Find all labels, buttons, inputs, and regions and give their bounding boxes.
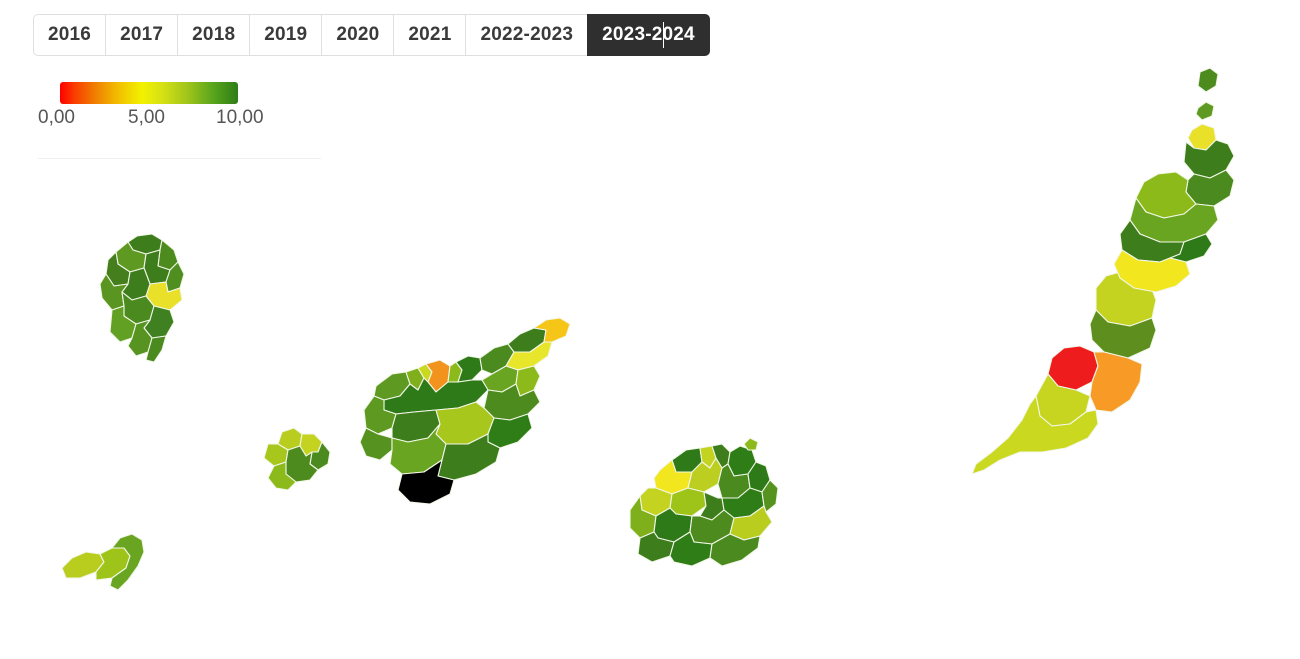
municipality[interactable] <box>516 366 540 396</box>
island-el-hierro[interactable] <box>62 534 144 590</box>
island-gran-canaria[interactable] <box>630 438 778 566</box>
island-la-palma[interactable] <box>100 234 184 362</box>
island-fuerteventura[interactable] <box>972 272 1156 474</box>
island-la-gomera[interactable] <box>264 428 330 490</box>
municipality[interactable] <box>1198 68 1218 92</box>
canary-islands-choropleth-map[interactable] <box>0 0 1300 659</box>
municipality[interactable] <box>670 488 706 516</box>
island-tenerife[interactable] <box>360 318 570 504</box>
municipality[interactable] <box>1196 102 1214 120</box>
municipality[interactable] <box>360 428 392 460</box>
island-lanzarote[interactable] <box>1114 68 1234 292</box>
municipality[interactable] <box>1090 352 1142 412</box>
